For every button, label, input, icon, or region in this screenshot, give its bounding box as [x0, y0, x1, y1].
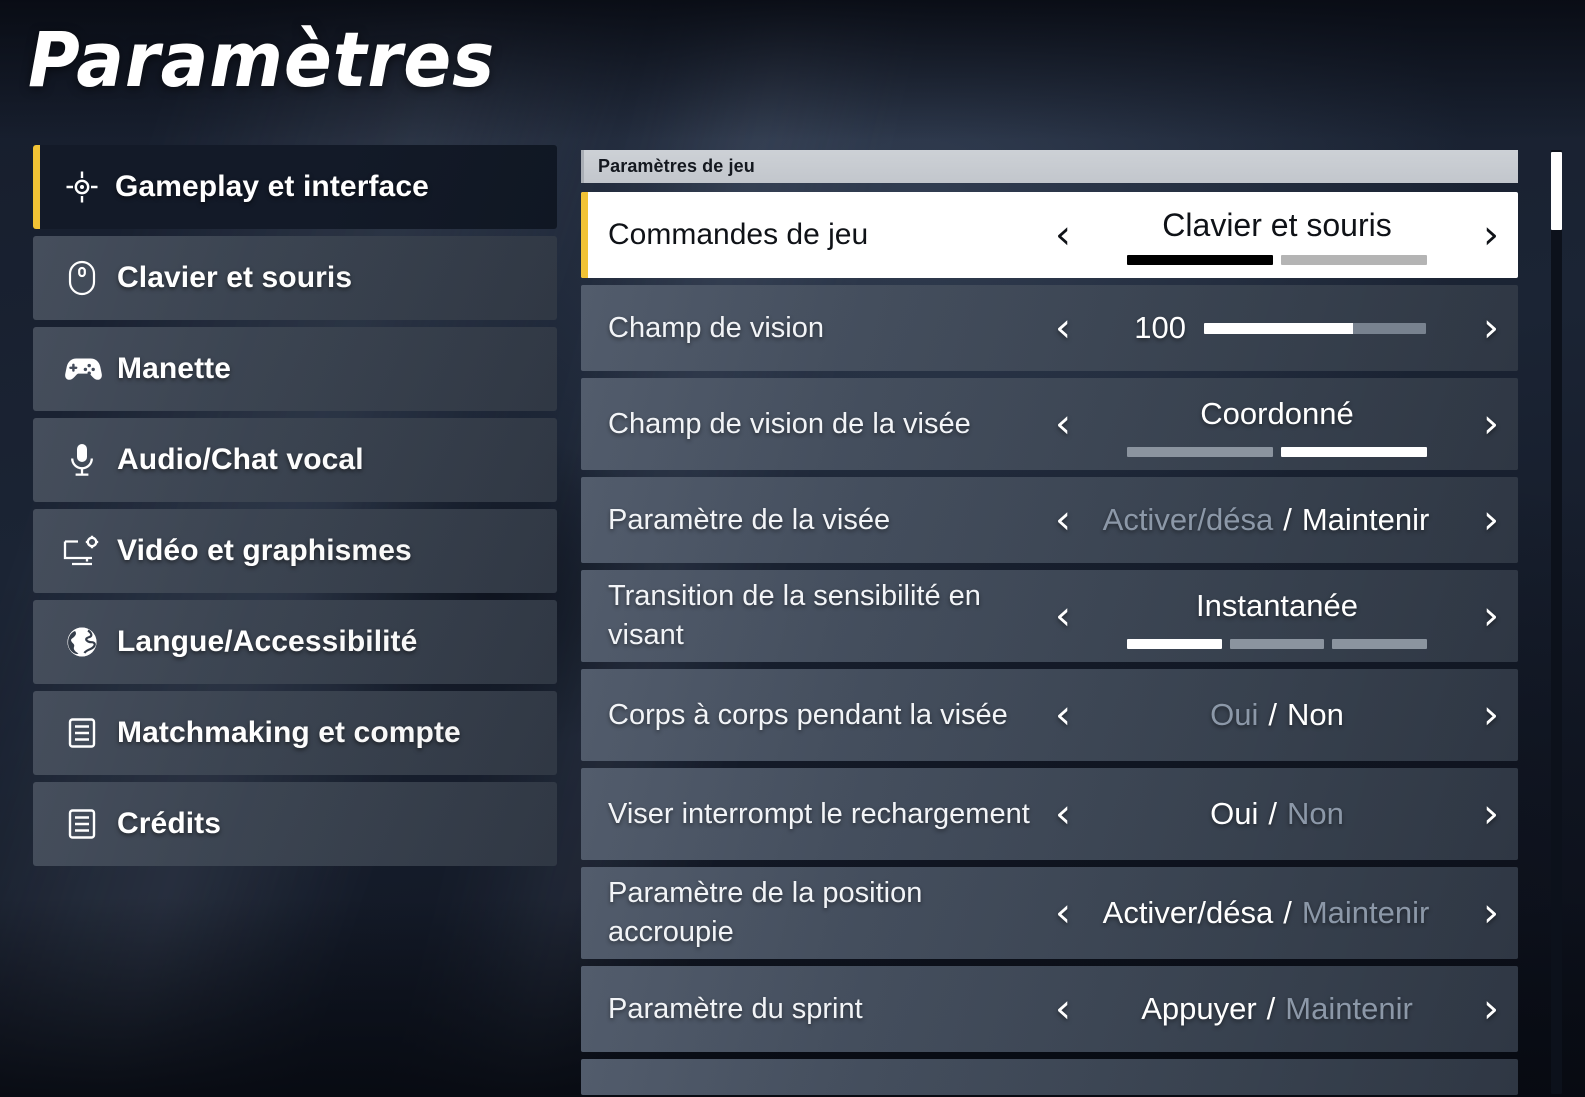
- chevron-right-icon[interactable]: ›: [1474, 893, 1508, 933]
- setting-label: Corps à corps pendant la visée: [608, 696, 1040, 735]
- setting-label: Paramètre de la position accroupie: [608, 874, 1040, 952]
- globe-icon: [59, 626, 105, 658]
- panel-header-label: Paramètres de jeu: [598, 156, 755, 177]
- page-title: Paramètres: [28, 22, 495, 98]
- toggle-separator: /: [1267, 991, 1276, 1027]
- segment-0: [1127, 447, 1273, 457]
- setting-row-8[interactable]: Paramètre du sprint‹Appuyer/Maintenir›: [581, 966, 1518, 1052]
- setting-control: ‹Activer/désa/Maintenir›: [1040, 477, 1518, 563]
- toggle-separator: /: [1268, 697, 1277, 733]
- setting-label: Paramètre du sprint: [608, 990, 1040, 1029]
- setting-control: ‹Activer/désa/Maintenir›: [1040, 867, 1518, 959]
- setting-label: Commandes de jeu: [608, 215, 1040, 255]
- sidebar-item-2[interactable]: Manette: [33, 327, 557, 411]
- toggle-option-b[interactable]: Maintenir: [1302, 502, 1430, 538]
- chevron-left-icon[interactable]: ‹: [1046, 500, 1080, 540]
- list-icon: [59, 717, 105, 749]
- segment-1: [1230, 639, 1325, 649]
- chevron-right-icon[interactable]: ›: [1474, 308, 1508, 348]
- setting-value-area: Instantanée: [1080, 570, 1474, 662]
- setting-control: ‹Oui/Non›: [1040, 768, 1518, 860]
- slider-fill: [1204, 323, 1353, 334]
- sidebar-item-6[interactable]: Matchmaking et compte: [33, 691, 557, 775]
- settings-panel: Paramètres de jeu Commandes de jeu‹Clavi…: [581, 150, 1518, 1090]
- toggle-option-a[interactable]: Oui: [1210, 796, 1258, 832]
- chevron-left-icon[interactable]: ‹: [1046, 404, 1080, 444]
- setting-value: Instantanée: [1196, 588, 1358, 624]
- row-gloss: [581, 1059, 1518, 1095]
- toggle-option-b[interactable]: Maintenir: [1302, 895, 1430, 931]
- setting-control: ‹Coordonné›: [1040, 378, 1518, 470]
- row-selection-accent: [581, 192, 588, 278]
- toggle-pair: Activer/désa/Maintenir: [1103, 895, 1430, 931]
- setting-row-0[interactable]: Commandes de jeu‹Clavier et souris›: [581, 192, 1518, 278]
- settings-sidebar: Gameplay et interfaceClavier et sourisMa…: [33, 145, 557, 873]
- toggle-option-b[interactable]: Maintenir: [1285, 991, 1413, 1027]
- slider-control[interactable]: 100: [1128, 310, 1426, 346]
- vertical-scrollbar[interactable]: [1551, 150, 1562, 1094]
- toggle-separator: /: [1283, 502, 1292, 538]
- toggle-option-a[interactable]: Oui: [1210, 697, 1258, 733]
- setting-label: Paramètre de la visée: [608, 501, 1040, 540]
- setting-row-1[interactable]: Champ de vision‹100›: [581, 285, 1518, 371]
- setting-row-partial[interactable]: [581, 1059, 1518, 1095]
- setting-control: ‹Instantanée›: [1040, 570, 1518, 662]
- chevron-right-icon[interactable]: ›: [1474, 695, 1508, 735]
- setting-control: ‹Clavier et souris›: [1040, 192, 1518, 278]
- segment-indicator: [1127, 255, 1427, 265]
- chevron-left-icon[interactable]: ‹: [1046, 893, 1080, 933]
- chevron-right-icon[interactable]: ›: [1474, 404, 1508, 444]
- sidebar-item-label: Langue/Accessibilité: [117, 625, 417, 659]
- setting-value-area: Clavier et souris: [1080, 192, 1474, 278]
- chevron-left-icon[interactable]: ‹: [1046, 308, 1080, 348]
- chevron-left-icon[interactable]: ‹: [1046, 695, 1080, 735]
- toggle-separator: /: [1283, 895, 1292, 931]
- sidebar-item-label: Crédits: [117, 807, 221, 841]
- sidebar-item-label: Gameplay et interface: [115, 170, 429, 204]
- chevron-right-icon[interactable]: ›: [1474, 215, 1508, 255]
- chevron-right-icon[interactable]: ›: [1474, 794, 1508, 834]
- sidebar-selection-accent: [33, 145, 40, 229]
- toggle-option-a[interactable]: Activer/désa: [1103, 502, 1274, 538]
- setting-value-area: Activer/désa/Maintenir: [1080, 477, 1474, 563]
- chevron-right-icon[interactable]: ›: [1474, 500, 1508, 540]
- setting-value-area: 100: [1080, 285, 1474, 371]
- setting-label: Transition de la sensibilité en visant: [608, 577, 1040, 655]
- sidebar-item-label: Audio/Chat vocal: [117, 443, 364, 477]
- slider-value: 100: [1128, 310, 1186, 346]
- toggle-option-b[interactable]: Non: [1287, 796, 1344, 832]
- sidebar-item-gloss: [33, 782, 557, 866]
- segment-1: [1281, 447, 1427, 457]
- setting-value-area: Oui/Non: [1080, 669, 1474, 761]
- chevron-right-icon[interactable]: ›: [1474, 989, 1508, 1029]
- toggle-option-a[interactable]: Activer/désa: [1103, 895, 1274, 931]
- sidebar-item-7[interactable]: Crédits: [33, 782, 557, 866]
- toggle-pair: Oui/Non: [1210, 796, 1344, 832]
- setting-control: ‹100›: [1040, 285, 1518, 371]
- segment-0: [1127, 255, 1273, 265]
- scrollbar-thumb[interactable]: [1551, 152, 1562, 230]
- setting-value-area: Appuyer/Maintenir: [1080, 966, 1474, 1052]
- setting-row-5[interactable]: Corps à corps pendant la visée‹Oui/Non›: [581, 669, 1518, 761]
- list-icon: [59, 808, 105, 840]
- sidebar-item-label: Vidéo et graphismes: [117, 534, 412, 568]
- setting-value-area: Activer/désa/Maintenir: [1080, 867, 1474, 959]
- segment-0: [1127, 639, 1222, 649]
- chevron-left-icon[interactable]: ‹: [1046, 215, 1080, 255]
- sidebar-item-gloss: [33, 327, 557, 411]
- sidebar-item-label: Clavier et souris: [117, 261, 352, 295]
- setting-value-area: Coordonné: [1080, 378, 1474, 470]
- sidebar-item-label: Manette: [117, 352, 231, 386]
- setting-label: Champ de vision: [608, 309, 1040, 348]
- setting-value-area: Oui/Non: [1080, 768, 1474, 860]
- setting-row-2[interactable]: Champ de vision de la visée‹Coordonné›: [581, 378, 1518, 470]
- setting-row-7[interactable]: Paramètre de la position accroupie‹Activ…: [581, 867, 1518, 959]
- microphone-icon: [59, 442, 105, 478]
- settings-row-list: Commandes de jeu‹Clavier et souris›Champ…: [581, 192, 1518, 1095]
- chevron-left-icon[interactable]: ‹: [1046, 989, 1080, 1029]
- toggle-pair: Activer/désa/Maintenir: [1103, 502, 1430, 538]
- sidebar-item-0[interactable]: Gameplay et interface: [33, 145, 557, 229]
- sidebar-item-label: Matchmaking et compte: [117, 716, 461, 750]
- sidebar-item-4[interactable]: Vidéo et graphismes: [33, 509, 557, 593]
- gamepad-icon: [59, 355, 105, 383]
- setting-value: Clavier et souris: [1162, 207, 1391, 244]
- toggle-separator: /: [1268, 796, 1277, 832]
- toggle-pair: Appuyer/Maintenir: [1141, 991, 1413, 1027]
- toggle-option-b[interactable]: Non: [1287, 697, 1344, 733]
- setting-label: Viser interrompt le rechargement: [608, 795, 1040, 834]
- setting-label: Champ de vision de la visée: [608, 405, 1040, 444]
- monitor-gear-icon: [59, 535, 105, 567]
- slider-track[interactable]: [1204, 323, 1426, 334]
- segment-1: [1281, 255, 1427, 265]
- sidebar-item-1[interactable]: Clavier et souris: [33, 236, 557, 320]
- chevron-right-icon[interactable]: ›: [1474, 596, 1508, 636]
- mouse-icon: [59, 260, 105, 296]
- chevron-left-icon[interactable]: ‹: [1046, 596, 1080, 636]
- setting-value: Coordonné: [1200, 396, 1353, 432]
- crosshair-icon: [59, 170, 105, 204]
- setting-row-4[interactable]: Transition de la sensibilité en visant‹I…: [581, 570, 1518, 662]
- chevron-left-icon[interactable]: ‹: [1046, 794, 1080, 834]
- toggle-option-a[interactable]: Appuyer: [1141, 991, 1256, 1027]
- panel-header: Paramètres de jeu: [581, 150, 1518, 183]
- toggle-pair: Oui/Non: [1210, 697, 1344, 733]
- setting-control: ‹Oui/Non›: [1040, 669, 1518, 761]
- segment-2: [1332, 639, 1427, 649]
- setting-control: ‹Appuyer/Maintenir›: [1040, 966, 1518, 1052]
- segment-indicator: [1127, 447, 1427, 457]
- sidebar-item-5[interactable]: Langue/Accessibilité: [33, 600, 557, 684]
- setting-row-6[interactable]: Viser interrompt le rechargement‹Oui/Non…: [581, 768, 1518, 860]
- setting-row-3[interactable]: Paramètre de la visée‹Activer/désa/Maint…: [581, 477, 1518, 563]
- sidebar-item-3[interactable]: Audio/Chat vocal: [33, 418, 557, 502]
- segment-indicator: [1127, 639, 1427, 649]
